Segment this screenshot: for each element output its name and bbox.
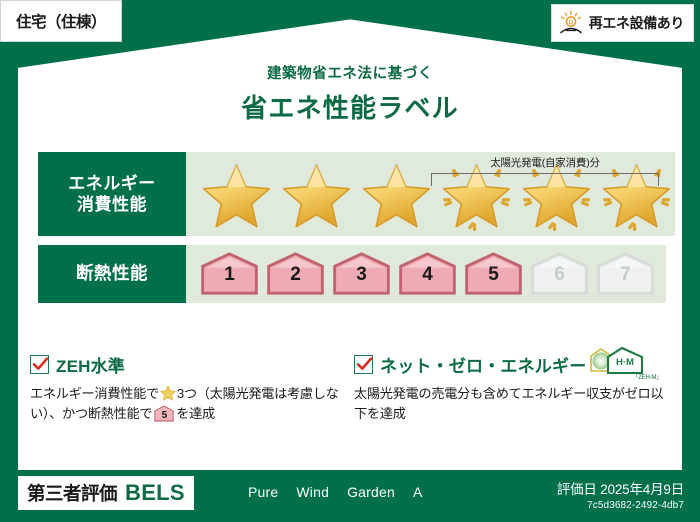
insulation-level-2: 2 [264,251,327,297]
criterion-zeh-header: ZEH水準 [30,352,340,377]
star-icon-solar [518,157,595,231]
svg-text:D: D [569,20,574,26]
evaluation-date: 評価日 2025年4月9日 [557,478,684,498]
project-name-word: Garden [347,484,395,500]
energy-performance-body: 太陽光発電(自家消費)分 [186,152,675,236]
insulation-level-value: 7 [594,264,657,286]
criterion-net-zero: ネット・ゼロ・エネルギー H·M 「ZEH-M」 [354,352,678,425]
energy-label-line-2: 消費性能 [77,194,147,215]
energy-label-line-1: エネルギー [68,173,156,194]
svg-text:H·M: H·M [616,357,634,368]
bels-evaluation-box: 第三者評価 BELS [18,476,194,510]
zeh-text-part-1: エネルギー消費性能で [30,386,159,401]
renewable-equipment-badge: D 再エネ設備あり [551,4,694,42]
energy-performance-label: 住宅（住棟） D 再エネ設備あり 建築物省エネ法に基づく 省エネ性能ラベ [0,0,700,522]
net-zero-text: 太陽光発電の売電分も含めてエネルギー収支がゼロ以下を達成 [354,386,663,421]
insulation-level-badge-icon: 5 [154,405,174,422]
criterion-zeh-description: エネルギー消費性能で3つ（太陽光発電は考慮しない）、かつ断熱性能で5を達成 [30,384,340,425]
criteria-section: ZEH水準 エネルギー消費性能で3つ（太陽光発電は考慮しない）、かつ断熱性能で5… [30,352,678,425]
insulation-level-value: 6 [528,264,591,286]
star-icon [278,157,355,231]
star-icon-solar [438,157,515,231]
energy-performance-label: エネルギー 消費性能 [38,152,186,236]
zeh-m-logo: H·M 「ZEH-M」 [588,345,662,381]
star-icon [160,385,176,401]
star-icon [358,157,435,231]
star-rating [198,157,675,231]
star-icon [198,157,275,231]
insulation-level-4: 4 [396,251,459,297]
renewable-badge-label: 再エネ設備あり [589,13,684,33]
project-name: PureWindGardenA [248,484,423,500]
insulation-level-value: 5 [462,264,525,286]
criterion-net-zero-title: ネット・ゼロ・エネルギー [380,352,586,377]
label-footer: 第三者評価 BELS PureWindGardenA 評価日 2025年4月9日… [0,470,700,522]
checkbox-checked-icon [30,355,49,374]
footer-evaluation-info: 評価日 2025年4月9日 7c5d3682-2492-4db7 [557,478,684,511]
insulation-level-value: 2 [264,264,327,286]
insulation-level-scale: 1234567 [198,251,657,297]
third-party-label: 第三者評価 [27,480,117,506]
energy-performance-row: エネルギー 消費性能 太陽光発電(自家消費)分 [38,152,666,236]
project-name-word: Wind [296,484,329,500]
insulation-performance-body: 1234567 [186,245,666,303]
zeh-m-caption: 「ZEH-M」 [632,372,662,381]
insulation-level-6: 6 [528,251,591,297]
criterion-zeh: ZEH水準 エネルギー消費性能で3つ（太陽光発電は考慮しない）、かつ断熱性能で5… [30,352,354,425]
insulation-level-7: 7 [594,251,657,297]
criterion-net-zero-description: 太陽光発電の売電分も含めてエネルギー収支がゼロ以下を達成 [354,384,664,425]
checkbox-checked-icon [354,355,373,374]
insulation-performance-label: 断熱性能 [38,245,186,303]
insulation-level-value: 3 [330,264,393,286]
insulation-level-5: 5 [462,251,525,297]
insulation-level-1: 1 [198,251,261,297]
building-type-tag-label: 住宅（住棟） [16,10,106,32]
insulation-performance-row: 断熱性能 1234567 [38,245,666,303]
heading-title: 省エネ性能ラベル [0,88,700,125]
insulation-level-value: 1 [198,264,261,286]
bels-logo-text: BELS [125,480,185,506]
insulation-level-3: 3 [330,251,393,297]
sun-icon: D [558,10,584,36]
building-type-tag: 住宅（住棟） [0,0,122,42]
heading-subtitle: 建築物省エネ法に基づく [0,62,700,83]
criterion-zeh-title: ZEH水準 [56,352,125,377]
performance-rows: エネルギー 消費性能 太陽光発電(自家消費)分 断熱性能 1234567 [38,152,666,312]
insulation-level-value: 4 [396,264,459,286]
insulation-label-text: 断熱性能 [76,263,148,285]
project-name-word: Pure [248,484,278,500]
zeh-text-part-3: を達成 [176,406,215,421]
certificate-id: 7c5d3682-2492-4db7 [557,500,684,511]
inline-house-value: 5 [154,408,174,424]
star-icon-solar [598,157,675,231]
project-name-word: A [413,484,423,500]
label-heading: 建築物省エネ法に基づく 省エネ性能ラベル [0,62,700,125]
